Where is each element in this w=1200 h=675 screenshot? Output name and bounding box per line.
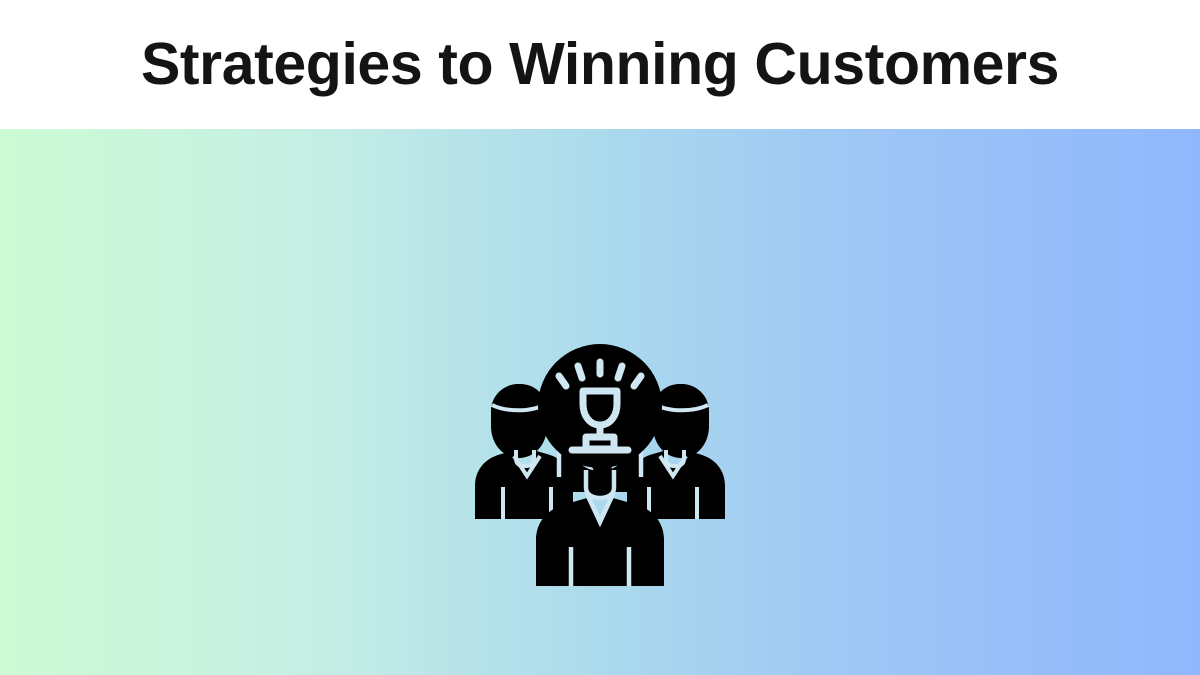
page-title: Strategies to Winning Customers	[141, 34, 1059, 94]
team-trophy-illustration	[473, 344, 727, 586]
title-bar: Strategies to Winning Customers	[0, 0, 1200, 129]
team-trophy-icon	[473, 344, 727, 586]
slide-canvas: Strategies to Winning Customers	[0, 0, 1200, 675]
hero-gradient-panel	[0, 129, 1200, 675]
